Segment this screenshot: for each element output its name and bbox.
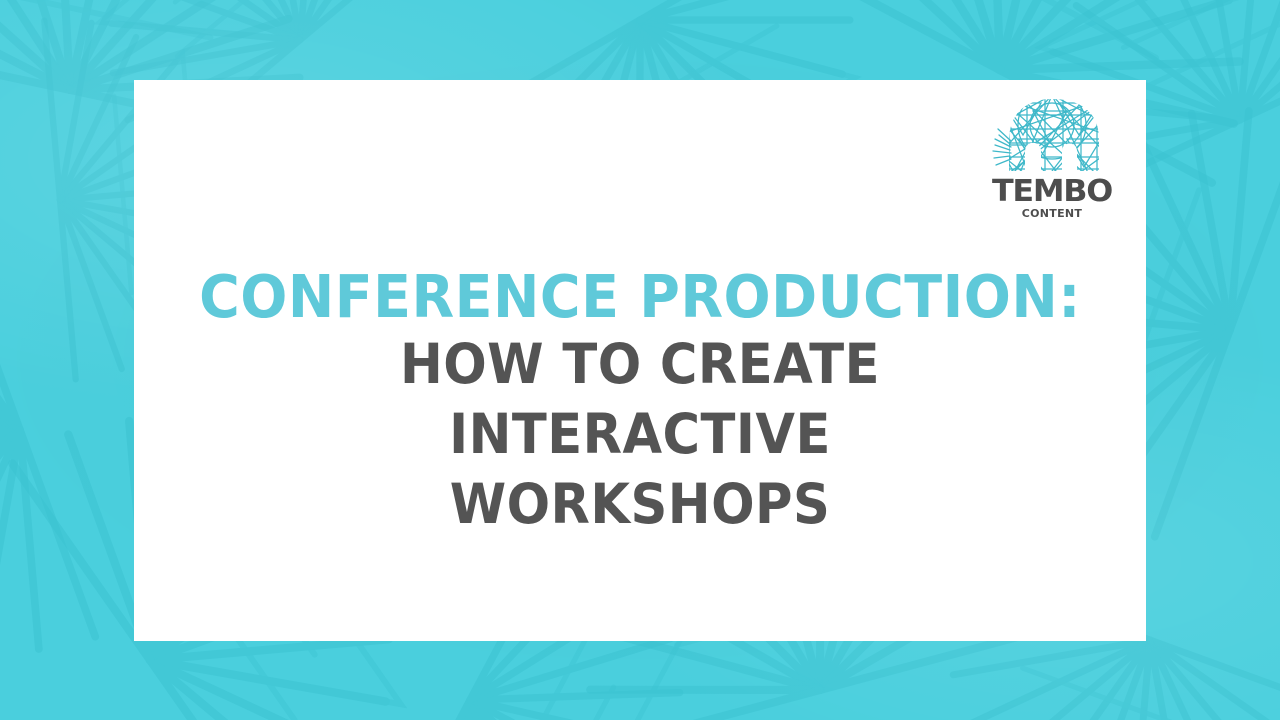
tembo-elephant-icon — [989, 95, 1115, 177]
tembo-logo: TEMBO CONTENT — [989, 95, 1115, 221]
slide-subtitle-line-3: WORKSHOPS — [192, 469, 1089, 539]
slide-subtitle-line-2: INTERACTIVE — [192, 399, 1089, 469]
slide-subtitle-line-1: HOW TO CREATE — [192, 329, 1089, 399]
headline-block: CONFERENCE PRODUCTION: HOW TO CREATE INT… — [134, 265, 1146, 539]
content-card: TEMBO CONTENT CONFERENCE PRODUCTION: HOW… — [134, 80, 1146, 641]
presentation-slide: TEMBO CONTENT CONFERENCE PRODUCTION: HOW… — [0, 0, 1280, 720]
logo-wordmark: TEMBO — [985, 178, 1119, 206]
slide-title: CONFERENCE PRODUCTION: — [187, 265, 1093, 329]
